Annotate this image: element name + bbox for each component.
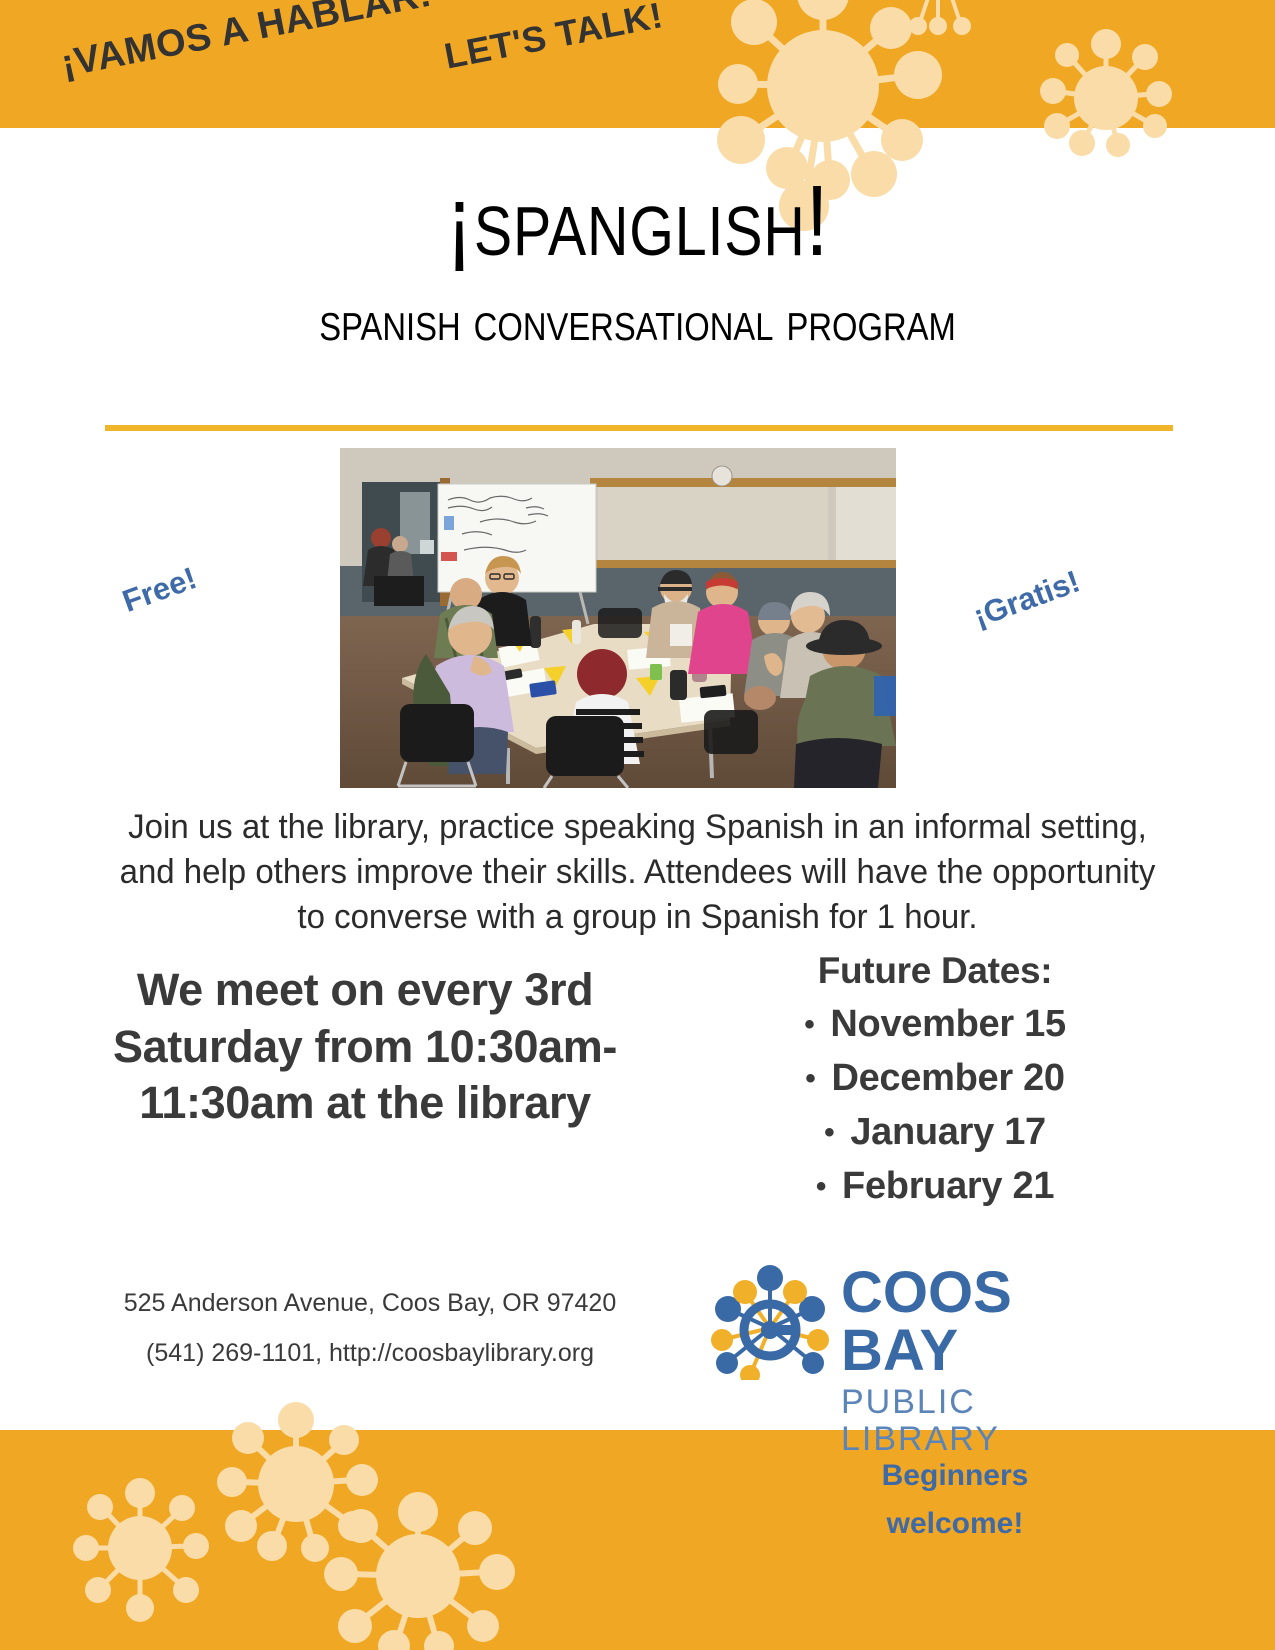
library-logo-mark-icon (705, 1250, 835, 1380)
title-block: ¡Spanglish! Spanish conversational progr… (0, 170, 1275, 352)
free-badge: Free! (118, 560, 202, 620)
future-date-label: November 15 (830, 998, 1065, 1052)
page-title: ¡Spanglish! (115, 170, 1161, 272)
gratis-badge: ¡Gratis! (969, 563, 1085, 635)
beginners-line-2: welcome! (790, 1500, 1120, 1548)
future-date-label: December 20 (831, 1052, 1064, 1106)
coos-bay-library-logo: COOS BAY PUBLIC LIBRARY (705, 1250, 1125, 1380)
list-item: • January 17 (690, 1106, 1180, 1160)
future-dates-heading: Future Dates: (690, 950, 1180, 992)
description-paragraph: Join us at the library, practice speakin… (102, 805, 1174, 940)
beginners-welcome-text: Beginners welcome! (790, 1452, 1120, 1548)
program-photo (340, 448, 896, 788)
future-dates-list: • November 15 • December 20 • January 17… (690, 998, 1180, 1214)
flyer-page: ¡VAMOS A HABLAR! LET'S TALK! ¡Spanglish!… (0, 0, 1275, 1650)
program-photo-illustration (340, 448, 896, 788)
gold-divider (105, 425, 1173, 431)
bullet-icon: • (824, 1118, 834, 1148)
logo-line-1: COOS BAY (841, 1264, 1125, 1380)
future-date-label: February 21 (842, 1160, 1054, 1214)
list-item: • February 21 (690, 1160, 1180, 1214)
contact-block: 525 Anderson Avenue, Coos Bay, OR 97420 … (60, 1278, 680, 1378)
beginners-line-1: Beginners (790, 1452, 1120, 1500)
future-dates-block: Future Dates: • November 15 • December 2… (690, 950, 1180, 1214)
bullet-icon: • (804, 1010, 814, 1040)
future-date-label: January 17 (850, 1106, 1046, 1160)
library-logo-wordmark: COOS BAY PUBLIC LIBRARY (841, 1264, 1125, 1459)
list-item: • November 15 (690, 998, 1180, 1052)
library-address: 525 Anderson Avenue, Coos Bay, OR 97420 (60, 1278, 680, 1328)
bullet-icon: • (816, 1172, 826, 1202)
bullet-icon: • (805, 1064, 815, 1094)
page-subtitle: Spanish conversational program (102, 290, 1173, 352)
schedule-text: We meet on every 3rd Saturday from 10:30… (85, 962, 645, 1132)
logo-line-2: PUBLIC LIBRARY (841, 1384, 1125, 1459)
library-phone-website[interactable]: (541) 269-1101, http://coosbaylibrary.or… (60, 1328, 680, 1378)
list-item: • December 20 (690, 1052, 1180, 1106)
